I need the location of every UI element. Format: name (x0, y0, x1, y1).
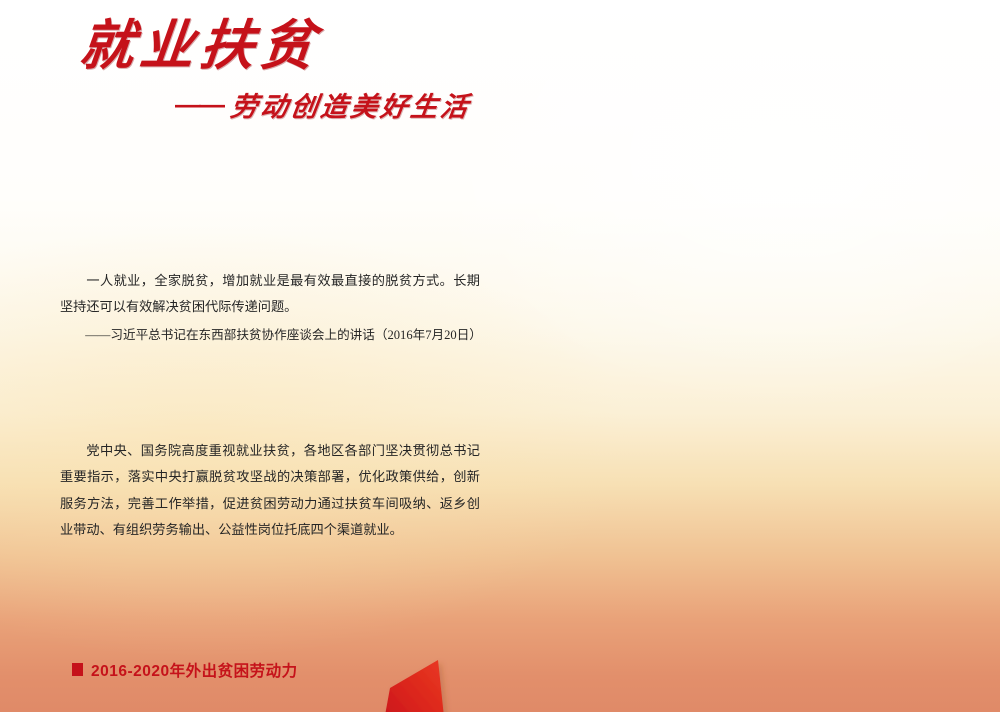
subtitle-dash: —— (175, 89, 223, 120)
body-block: 党中央、国务院高度重视就业扶贫，各地区各部门坚决贯彻总书记重要指示，落实中央打赢… (60, 438, 480, 544)
poster-root: 就业扶贫 —— 劳动创造美好生活 一人就业，全家脱贫，增加就业是最有效最直接的脱… (0, 0, 1000, 712)
quote-attribution: ——习近平总书记在东西部扶贫协作座谈会上的讲话（2016年7月20日） (60, 323, 480, 348)
arrow-chart-svg (60, 658, 480, 712)
page-subtitle: 劳动创造美好生活 (228, 85, 473, 124)
page-title: 就业扶贫 (77, 18, 483, 75)
title-block: 就业扶贫 —— 劳动创造美好生活 (80, 18, 480, 138)
quote-block: 一人就业，全家脱贫，增加就业是最有效最直接的脱贫方式。长期坚持还可以有效解决贫困… (60, 268, 480, 348)
arrow-chart: 1527.03万 1944.78万 2322.50万 2729.28万 2897… (60, 658, 480, 712)
subtitle-wrap: —— 劳动创造美好生活 (175, 85, 480, 124)
quote-text: 一人就业，全家脱贫，增加就业是最有效最直接的脱贫方式。长期坚持还可以有效解决贫困… (60, 268, 480, 321)
body-paragraph: 党中央、国务院高度重视就业扶贫，各地区各部门坚决贯彻总书记重要指示，落实中央打赢… (60, 438, 480, 544)
arrow-shaft (68, 692, 428, 712)
arrow-head (382, 660, 446, 712)
